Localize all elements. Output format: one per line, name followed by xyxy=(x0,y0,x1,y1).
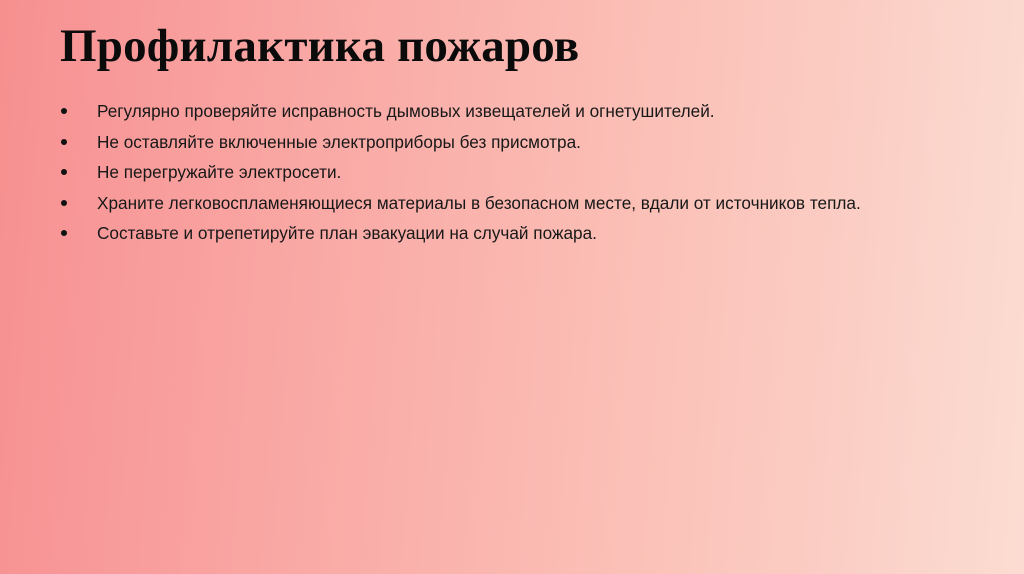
list-item: Храните легковоспламеняющиеся материалы … xyxy=(56,188,986,219)
list-item-text: Регулярно проверяйте исправность дымовых… xyxy=(97,96,986,127)
slide-canvas: Профилактика пожаров Регулярно проверяйт… xyxy=(0,0,1024,574)
list-item: Составьте и отрепетируйте план эвакуации… xyxy=(56,218,986,249)
bullet-dot-icon xyxy=(56,127,97,145)
page-title: Профилактика пожаров xyxy=(60,18,960,74)
list-item-text: Храните легковоспламеняющиеся материалы … xyxy=(97,188,986,219)
list-item-text: Не перегружайте электросети. xyxy=(97,157,986,188)
list-item: Регулярно проверяйте исправность дымовых… xyxy=(56,96,986,127)
bullet-dot-icon xyxy=(56,218,97,236)
bullet-dot-icon xyxy=(56,96,97,114)
list-item-text: Не оставляйте включенные электроприборы … xyxy=(97,127,986,158)
bullet-dot-icon xyxy=(56,188,97,206)
list-item: Не перегружайте электросети. xyxy=(56,157,986,188)
list-item: Не оставляйте включенные электроприборы … xyxy=(56,127,986,158)
list-item-text: Составьте и отрепетируйте план эвакуации… xyxy=(97,218,986,249)
bullet-dot-icon xyxy=(56,157,97,175)
bullet-list: Регулярно проверяйте исправность дымовых… xyxy=(56,96,986,249)
